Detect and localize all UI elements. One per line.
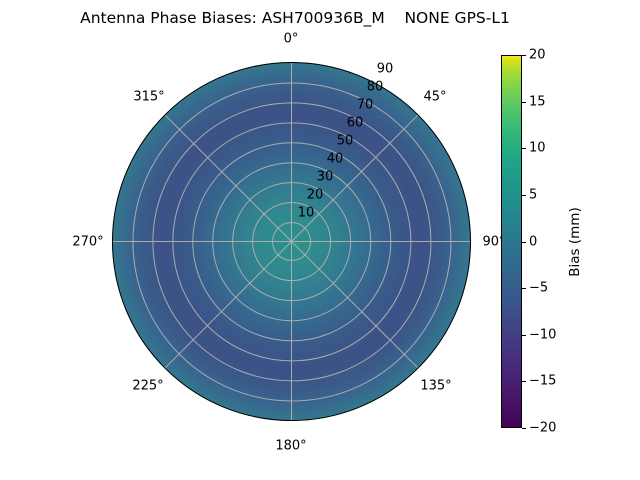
colorbar-tickmark-minus15 — [522, 381, 526, 382]
polar-heatmap-surface — [112, 62, 471, 421]
colorbar-tickmark-20 — [522, 55, 526, 56]
colorbar-axis-label: Bias (mm) — [567, 207, 583, 276]
page-title: Antenna Phase Biases: ASH700936B_M NONE … — [0, 9, 590, 27]
colorbar-tickmark-minus10 — [522, 335, 526, 336]
theta-tick-label-315: 315° — [133, 90, 164, 105]
polar-axes: 10 20 30 40 50 60 70 80 90 — [112, 62, 471, 421]
colorbar-tickmark-15 — [522, 102, 526, 103]
theta-tick-label-135: 135° — [420, 379, 451, 394]
colorbar-ticklabel-20: 20 — [529, 48, 546, 63]
r-tick-label-10: 10 — [298, 206, 315, 221]
colorbar-tickmark-minus20 — [522, 428, 526, 429]
colorbar-ticklabel-minus10: −10 — [529, 327, 556, 342]
r-tick-label-50: 50 — [337, 134, 354, 149]
colorbar-ticklabel-10: 10 — [529, 141, 546, 156]
colorbar-ticklabel-minus15: −15 — [529, 374, 556, 389]
colorbar-gradient — [501, 55, 522, 428]
r-tick-label-70: 70 — [357, 98, 374, 113]
r-tick-label-20: 20 — [307, 188, 324, 203]
r-tick-label-30: 30 — [317, 170, 334, 185]
theta-tick-label-270: 270° — [72, 235, 103, 250]
colorbar-tickmark-minus5 — [522, 288, 526, 289]
theta-tick-label-45: 45° — [423, 90, 446, 105]
r-tick-label-90: 90 — [377, 62, 394, 77]
theta-tick-label-225: 225° — [132, 379, 163, 394]
theta-tick-label-180: 180° — [275, 439, 306, 454]
r-tick-label-40: 40 — [327, 152, 344, 167]
r-tick-label-80: 80 — [367, 80, 384, 95]
colorbar-ticklabel-5: 5 — [529, 187, 537, 202]
colorbar-ticklabel-minus20: −20 — [529, 421, 556, 436]
theta-tick-label-0: 0° — [284, 32, 299, 47]
r-tick-label-60: 60 — [347, 116, 364, 131]
colorbar-ticklabel-0: 0 — [529, 234, 537, 249]
colorbar-tickmark-5 — [522, 195, 526, 196]
colorbar-tickmark-10 — [522, 148, 526, 149]
colorbar-ticklabel-15: 15 — [529, 94, 546, 109]
colorbar-tickmark-0 — [522, 242, 526, 243]
polar-color-field — [112, 62, 471, 421]
colorbar-ticklabel-minus5: −5 — [529, 281, 548, 296]
